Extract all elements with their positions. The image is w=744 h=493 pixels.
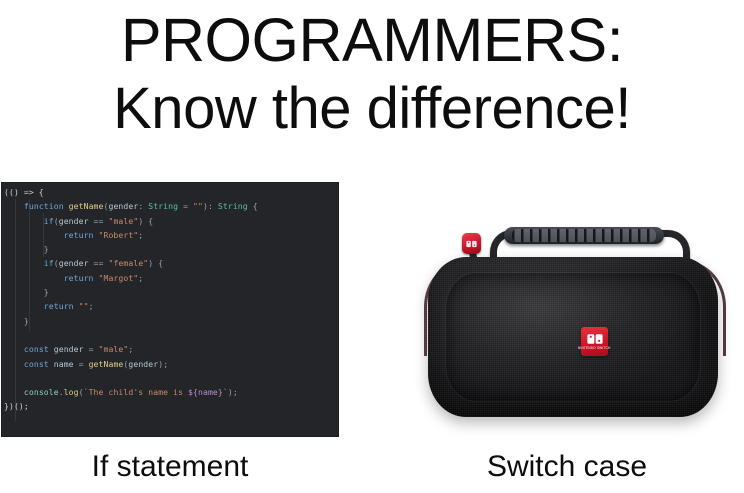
code-screenshot-panel: (() => { function getName(gender: String… [2, 183, 338, 436]
code-token: String [148, 201, 178, 211]
code-line: return ""; [2, 299, 338, 313]
code-token: "male" [99, 344, 129, 354]
code-token: = [178, 201, 193, 211]
code-token: gender [59, 258, 89, 268]
code-token: return [44, 301, 79, 311]
caption-switch-case: Switch case [400, 448, 734, 486]
code-token: } [24, 316, 29, 326]
case-handle-grip [504, 227, 664, 244]
switch-case-photo: NINTENDO SWITCH [398, 215, 732, 433]
code-token: const [24, 359, 54, 369]
code-token: } [44, 244, 49, 254]
case-shell-rim [446, 273, 700, 401]
code-text: (() => { function getName(gender: String… [2, 185, 338, 414]
code-token: "Robert" [99, 230, 139, 240]
nintendo-switch-logo-icon [587, 333, 603, 345]
code-line: } [2, 242, 338, 256]
code-line: const gender = "male"; [2, 342, 338, 356]
code-line: return "Robert"; [2, 228, 338, 242]
code-token: `The child's name is [84, 387, 188, 397]
code-token: return [64, 230, 99, 240]
code-token: "male" [108, 216, 138, 226]
code-token: })(); [4, 401, 29, 411]
code-token: == [89, 258, 109, 268]
code-token: ); [228, 387, 238, 397]
code-line: (() => { [2, 185, 338, 199]
nintendo-switch-logo-icon [466, 240, 477, 248]
code-token: "" [193, 201, 203, 211]
code-token: ); [158, 359, 168, 369]
code-line: })(); [2, 399, 338, 413]
code-line [2, 328, 338, 342]
code-token: gender [128, 359, 158, 369]
code-token: (() => { [4, 187, 44, 197]
code-line: return "Margot"; [2, 271, 338, 285]
code-line: if(gender == "female") { [2, 256, 338, 270]
code-token: { [248, 201, 258, 211]
code-token: name [54, 359, 74, 369]
code-token: "female" [108, 258, 148, 268]
code-token: getName [69, 201, 104, 211]
code-line: } [2, 285, 338, 299]
code-token: log [64, 387, 79, 397]
code-token: if [44, 216, 54, 226]
code-token: ) { [148, 258, 163, 268]
code-token: function [24, 201, 69, 211]
title-line-1: PROGRAMMERS: [0, 4, 744, 76]
code-token: return [64, 273, 99, 283]
code-token: == [89, 216, 109, 226]
code-token: ; [138, 273, 143, 283]
code-line: } [2, 314, 338, 328]
code-token: gender [108, 201, 138, 211]
code-token: gender [54, 344, 84, 354]
code-token: "" [79, 301, 89, 311]
code-token: console [24, 387, 59, 397]
code-line: if(gender == "male") { [2, 214, 338, 228]
code-token: if [44, 258, 54, 268]
nintendo-switch-badge: NINTENDO SWITCH [581, 327, 608, 356]
code-line: console.log(`The child's name is ${name}… [2, 385, 338, 399]
code-token: getName [89, 359, 124, 369]
zipper-pull-tab [462, 233, 481, 254]
meme-title: PROGRAMMERS: Know the difference! [0, 4, 744, 142]
code-token: ): [203, 201, 218, 211]
badge-wordmark: NINTENDO SWITCH [578, 346, 611, 350]
code-token: "Margot" [99, 273, 139, 283]
code-token: ${name} [188, 387, 223, 397]
code-token: : [138, 201, 148, 211]
code-token: = [74, 359, 89, 369]
case-shell [428, 257, 718, 417]
code-token: = [84, 344, 99, 354]
code-token: gender [59, 216, 89, 226]
code-line [2, 371, 338, 385]
code-token: } [44, 287, 49, 297]
code-token: String [218, 201, 248, 211]
code-token: ; [128, 344, 133, 354]
caption-if-statement: If statement [0, 448, 340, 486]
code-token: ; [138, 230, 143, 240]
code-token: ; [89, 301, 94, 311]
code-token: ) { [138, 216, 153, 226]
code-line: function getName(gender: String = ""): S… [2, 199, 338, 213]
title-line-2: Know the difference! [0, 76, 744, 142]
code-token: const [24, 344, 54, 354]
code-line: const name = getName(gender); [2, 357, 338, 371]
